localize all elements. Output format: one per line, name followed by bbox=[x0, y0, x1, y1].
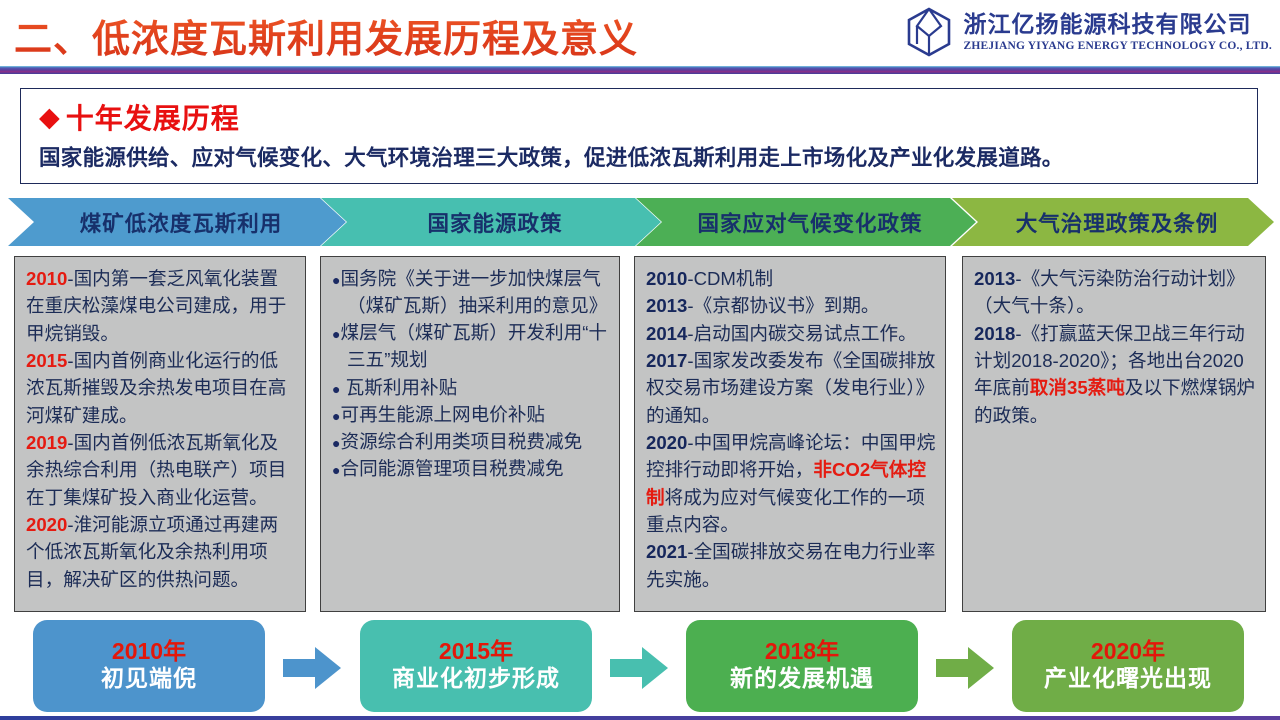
timeline-entry: 2013-《京都协议书》到期。 bbox=[646, 292, 936, 319]
entry-text: -CDM机制 bbox=[687, 268, 773, 289]
content-box-national-climate-change-policy: 2010-CDM机制2013-《京都协议书》到期。2014-启动国内碳交易试点工… bbox=[634, 256, 946, 612]
intro-panel: ◆ 十年发展历程 国家能源供给、应对气候变化、大气环境治理三大政策，促进低浓瓦斯… bbox=[20, 88, 1258, 184]
bullet-text: 合同能源管理项目税费减免 bbox=[340, 458, 563, 479]
stage-arrow-1-icon bbox=[283, 646, 341, 690]
policy-bullet-item: ● 瓦斯利用补贴 bbox=[332, 374, 610, 401]
entry-year: 2020 bbox=[26, 514, 67, 535]
timeline-entry: 2010-CDM机制 bbox=[646, 265, 936, 292]
entry-year: 2017 bbox=[646, 350, 687, 371]
stage-card-3[interactable]: 2018年新的发展机遇 bbox=[686, 620, 918, 712]
intro-heading-text: 十年发展历程 bbox=[66, 97, 240, 137]
bullet-text: 煤层气（煤矿瓦斯）开发利用“十三五”规划 bbox=[340, 322, 607, 370]
timeline-entry: 2015-国内首例商业化运行的低浓瓦斯摧毁及余热发电项目在高河煤矿建成。 bbox=[26, 347, 296, 429]
timeline-entry: 2014-启动国内碳交易试点工作。 bbox=[646, 320, 936, 347]
entry-year: 2010 bbox=[26, 268, 67, 289]
entry-year: 2020 bbox=[646, 432, 687, 453]
stage-card-1[interactable]: 2010年初见端倪 bbox=[33, 620, 265, 712]
company-name-cn: 浙江亿扬能源科技有限公司 bbox=[963, 12, 1272, 36]
stage-year: 2015年 bbox=[439, 638, 513, 664]
chevron-1[interactable]: 煤矿低浓度瓦斯利用 bbox=[8, 198, 346, 246]
chevron-4[interactable]: 大气治理政策及条例 bbox=[952, 198, 1274, 246]
entry-text: -启动国内碳交易试点工作。 bbox=[687, 323, 916, 344]
company-name-block: 浙江亿扬能源科技有限公司 ZHEJIANG YIYANG ENERGY TECH… bbox=[963, 12, 1272, 51]
page-title: 二、低浓度瓦斯利用发展历程及意义 bbox=[14, 8, 638, 63]
timeline-entry: 2010-国内第一套乏风氧化装置在重庆松藻煤电公司建成，用于甲烷销毁。 bbox=[26, 265, 296, 347]
slide-header: 二、低浓度瓦斯利用发展历程及意义 浙江亿扬能源科技有限公司 ZHEJIANG Y… bbox=[0, 0, 1280, 68]
stage-year: 2020年 bbox=[1091, 638, 1165, 664]
chevron-label: 煤矿低浓度瓦斯利用 bbox=[80, 207, 283, 238]
entry-highlight: 取消35蒸吨 bbox=[1030, 377, 1125, 398]
entry-text: -《京都协议书》到期。 bbox=[687, 295, 879, 316]
bullet-text: 国务院《关于进一步加快煤层气（煤矿瓦斯）抽采利用的意见》 bbox=[340, 268, 607, 316]
entry-year: 2014 bbox=[646, 323, 687, 344]
entry-year: 2010 bbox=[646, 268, 687, 289]
stage-card-2[interactable]: 2015年商业化初步形成 bbox=[360, 620, 592, 712]
chevron-2[interactable]: 国家能源政策 bbox=[321, 198, 661, 246]
timeline-entry: 2017-国家发改委发布《全国碳排放权交易市场建设方案（发电行业）》的通知。 bbox=[646, 347, 936, 429]
entry-text: -《大气污染防治行动计划》（大气十条）。 bbox=[974, 268, 1245, 316]
timeline-entry: 2018-《打赢蓝天保卫战三年行动计划2018-2020》；各地出台2020年底… bbox=[974, 320, 1256, 429]
stage-label: 产业化曙光出现 bbox=[1044, 664, 1212, 694]
chevron-label: 国家能源政策 bbox=[427, 207, 562, 238]
entry-year: 2015 bbox=[26, 350, 67, 371]
timeline-entry: 2019-国内首例低浓瓦斯氧化及余热综合利用（热电联产）项目在丁集煤矿投入商业化… bbox=[26, 429, 296, 511]
chevron-label: 大气治理政策及条例 bbox=[1016, 207, 1219, 238]
stage-year: 2018年 bbox=[765, 638, 839, 664]
footer-divider bbox=[0, 716, 1280, 720]
header-divider bbox=[0, 66, 1280, 74]
timeline-entry: 2020-淮河能源立项通过再建两个低浓瓦斯氧化及余热利用项目，解决矿区的供热问题… bbox=[26, 511, 296, 593]
company-logo: 浙江亿扬能源科技有限公司 ZHEJIANG YIYANG ENERGY TECH… bbox=[905, 6, 1272, 58]
entry-year: 2013 bbox=[646, 295, 687, 316]
stage-arrow-3-icon bbox=[936, 646, 994, 690]
intro-subtitle: 国家能源供给、应对气候变化、大气环境治理三大政策，促进低浓瓦斯利用走上市场化及产… bbox=[39, 141, 1247, 172]
chevron-band: 煤矿低浓度瓦斯利用国家能源政策国家应对气候变化政策大气治理政策及条例 bbox=[8, 198, 1274, 246]
stage-year: 2010年 bbox=[112, 638, 186, 664]
timeline-entry: 2021-全国碳排放交易在电力行业率先实施。 bbox=[646, 538, 936, 593]
content-box-national-energy-policy: ●国务院《关于进一步加快煤层气（煤矿瓦斯）抽采利用的意见》●煤层气（煤矿瓦斯）开… bbox=[320, 256, 620, 612]
company-name-en: ZHEJIANG YIYANG ENERGY TECHNOLOGY CO., L… bbox=[963, 40, 1272, 52]
entry-text-after: 将成为应对气候变化工作的一项重点内容。 bbox=[646, 487, 925, 535]
bullet-text: 资源综合利用类项目税费减免 bbox=[340, 431, 582, 452]
bullet-text: 瓦斯利用补贴 bbox=[340, 377, 457, 398]
chevron-label: 国家应对气候变化政策 bbox=[697, 207, 922, 238]
policy-bullet-item: ●煤层气（煤矿瓦斯）开发利用“十三五”规划 bbox=[332, 319, 610, 373]
timeline-entry: 2020-中国甲烷高峰论坛：中国甲烷控排行动即将开始，非CO2气体控制将成为应对… bbox=[646, 429, 936, 538]
bullet-text: 可再生能源上网电价补贴 bbox=[340, 404, 545, 425]
stage-card-4[interactable]: 2020年产业化曙光出现 bbox=[1012, 620, 1244, 712]
red-diamond-icon: ◆ bbox=[39, 104, 60, 131]
stage-label: 商业化初步形成 bbox=[392, 664, 560, 694]
entry-year: 2013 bbox=[974, 268, 1015, 289]
stage-label: 初见端倪 bbox=[101, 664, 197, 694]
policy-bullet-item: ●资源综合利用类项目税费减免 bbox=[332, 428, 610, 455]
stage-label: 新的发展机遇 bbox=[730, 664, 874, 694]
stage-arrow-2-icon bbox=[610, 646, 668, 690]
entry-year: 2021 bbox=[646, 541, 687, 562]
policy-bullet-item: ●可再生能源上网电价补贴 bbox=[332, 401, 610, 428]
chevron-3[interactable]: 国家应对气候变化政策 bbox=[636, 198, 976, 246]
content-box-air-pollution-control-policy: 2013-《大气污染防治行动计划》（大气十条）。2018-《打赢蓝天保卫战三年行… bbox=[962, 256, 1266, 612]
hexagon-logo-icon bbox=[905, 6, 953, 58]
timeline-entry: 2013-《大气污染防治行动计划》（大气十条）。 bbox=[974, 265, 1256, 320]
policy-bullet-item: ●合同能源管理项目税费减免 bbox=[332, 455, 610, 482]
policy-bullet-item: ●国务院《关于进一步加快煤层气（煤矿瓦斯）抽采利用的意见》 bbox=[332, 265, 610, 319]
entry-year: 2019 bbox=[26, 432, 67, 453]
intro-heading: ◆ 十年发展历程 bbox=[39, 97, 240, 137]
entry-year: 2018 bbox=[974, 323, 1015, 344]
entry-text: -国家发改委发布《全国碳排放权交易市场建设方案（发电行业）》的通知。 bbox=[646, 350, 935, 426]
content-box-coal-mine-low-concentration-gas: 2010-国内第一套乏风氧化装置在重庆松藻煤电公司建成，用于甲烷销毁。2015-… bbox=[14, 256, 306, 612]
entry-text: -全国碳排放交易在电力行业率先实施。 bbox=[646, 541, 935, 589]
slide-root: 二、低浓度瓦斯利用发展历程及意义 浙江亿扬能源科技有限公司 ZHEJIANG Y… bbox=[0, 0, 1280, 720]
